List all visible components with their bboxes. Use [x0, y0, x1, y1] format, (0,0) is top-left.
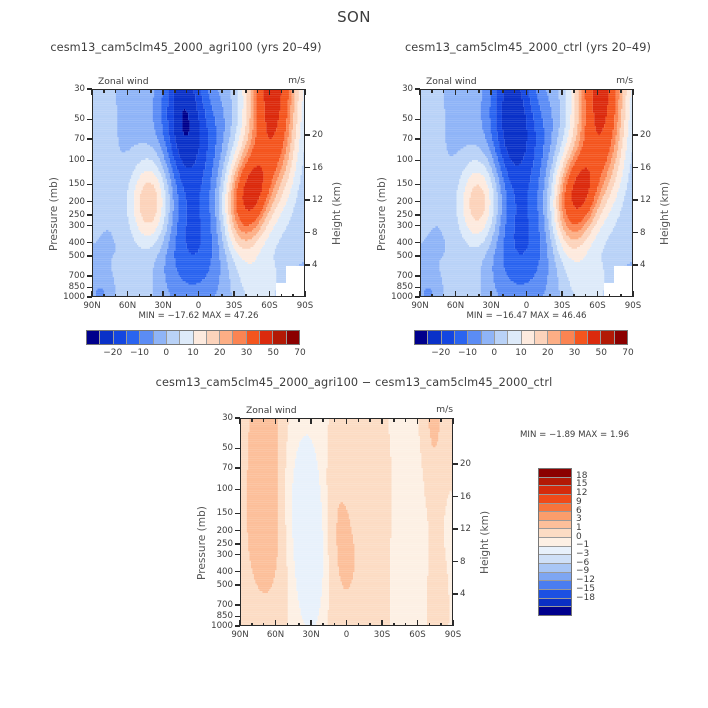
- top-axis-tick: [573, 89, 575, 93]
- pressure-tick-label: 250: [0, 210, 413, 220]
- bottom-axis-tick: [358, 623, 360, 627]
- top-axis-tick: [334, 418, 336, 422]
- height-tick-label: 4: [312, 260, 317, 270]
- bottom-axis-tick: [538, 294, 540, 298]
- pressure-tick: [415, 160, 420, 162]
- variable-label: Zonal wind: [426, 76, 477, 87]
- pressure-tick: [415, 242, 420, 244]
- pressure-tick: [235, 513, 240, 515]
- bottom-axis-tick: [369, 623, 371, 627]
- height-tick-label: 16: [640, 163, 651, 173]
- colorbar-swatch[interactable]: [87, 331, 100, 344]
- top-axis-tick: [429, 418, 431, 422]
- top-axis-tick: [381, 418, 383, 424]
- pressure-tick-label: 500: [0, 580, 233, 590]
- top-axis-tick: [502, 89, 504, 93]
- latitude-tick-label: 30N: [295, 630, 327, 640]
- top-axis-tick: [561, 89, 563, 95]
- bottom-axis-tick: [478, 294, 480, 298]
- pressure-tick: [415, 287, 420, 289]
- top-axis-tick: [239, 418, 241, 424]
- pressure-tick-label: 70: [0, 134, 413, 144]
- pressure-tick: [235, 554, 240, 556]
- bottom-axis-tick: [514, 294, 516, 298]
- top-axis-tick: [443, 89, 445, 93]
- top-axis-tick: [467, 89, 469, 93]
- height-tick: [453, 593, 458, 595]
- bottom-axis-tick: [419, 291, 421, 297]
- colorbar-swatch[interactable]: [415, 331, 428, 344]
- top-axis-tick: [251, 418, 253, 422]
- height-tick-label: 20: [460, 459, 471, 469]
- bottom-axis-tick: [452, 620, 454, 626]
- pressure-tick: [415, 225, 420, 227]
- latitude-tick-label: 60N: [112, 301, 144, 311]
- pressure-tick-label: 500: [0, 251, 413, 261]
- top-axis-tick: [369, 418, 371, 422]
- colorbar-swatch[interactable]: [428, 331, 441, 344]
- colorbar-swatch[interactable]: [539, 564, 571, 573]
- colorbar-swatch[interactable]: [539, 590, 571, 599]
- colorbar-swatch[interactable]: [455, 331, 468, 344]
- top-axis-tick: [514, 89, 516, 93]
- colorbar-swatch[interactable]: [508, 331, 521, 344]
- height-tick-label: 12: [460, 524, 471, 534]
- colorbar-swatch[interactable]: [273, 331, 286, 344]
- bottom-axis-tick: [381, 620, 383, 626]
- pressure-tick-label: 150: [0, 179, 413, 189]
- pressure-tick: [235, 584, 240, 586]
- pressure-tick-label: 1000: [0, 621, 233, 631]
- top-axis-tick: [597, 89, 599, 95]
- pressure-tick-label: 700: [0, 271, 413, 281]
- bottom-axis-tick: [429, 623, 431, 627]
- colorbar-swatch[interactable]: [180, 331, 193, 344]
- pressure-tick-label: 100: [0, 484, 233, 494]
- top-axis-tick: [455, 89, 457, 95]
- colorbar-swatch[interactable]: [539, 495, 571, 504]
- top-axis-tick: [526, 89, 528, 95]
- colorbar-swatch[interactable]: [539, 607, 571, 615]
- plot-panel-right: [420, 89, 633, 297]
- top-axis-tick: [431, 89, 433, 93]
- colorbar-swatch[interactable]: [167, 331, 180, 344]
- colorbar-swatch[interactable]: [539, 478, 571, 487]
- colorbar-swatch[interactable]: [442, 331, 455, 344]
- top-axis-tick: [346, 418, 348, 424]
- latitude-tick-label: 30S: [546, 301, 578, 311]
- height-tick: [305, 264, 310, 266]
- bottom-axis-tick: [443, 294, 445, 298]
- contour-field-diff: [241, 419, 453, 626]
- bottom-axis-tick: [431, 294, 433, 298]
- top-axis-tick: [632, 89, 634, 95]
- bottom-axis-tick: [298, 623, 300, 627]
- pressure-tick: [235, 489, 240, 491]
- latitude-tick-label: 90S: [437, 630, 469, 640]
- colorbar-swatch[interactable]: [220, 331, 233, 344]
- bottom-axis-tick: [275, 620, 277, 626]
- colorbar-swatch[interactable]: [615, 331, 627, 344]
- pressure-tick-label: 50: [0, 443, 233, 453]
- latitude-tick-label: 90N: [76, 301, 108, 311]
- colorbar-swatch[interactable]: [100, 331, 113, 344]
- pressure-tick-label: 50: [0, 114, 413, 124]
- pressure-tick-label: 100: [0, 155, 413, 165]
- height-tick-label: 16: [460, 492, 471, 502]
- bottom-axis-tick: [322, 623, 324, 627]
- top-axis-tick: [620, 89, 622, 93]
- height-tick: [453, 528, 458, 530]
- height-tick-label: 20: [640, 130, 651, 140]
- pressure-tick-label: 30: [0, 84, 413, 94]
- top-axis-tick: [287, 418, 289, 422]
- colorbar-swatch[interactable]: [539, 547, 571, 556]
- height-tick: [633, 167, 638, 169]
- height-tick: [305, 167, 310, 169]
- y-axis-left-title: Pressure (mb): [196, 506, 208, 580]
- colorbar-swatch[interactable]: [468, 331, 481, 344]
- pressure-tick: [415, 214, 420, 216]
- top-axis-tick: [609, 89, 611, 93]
- bottom-axis-tick: [490, 291, 492, 297]
- colorbar-swatch[interactable]: [114, 331, 127, 344]
- top-axis-tick: [440, 418, 442, 422]
- colorbar-swatch[interactable]: [127, 331, 140, 344]
- bottom-axis-tick: [502, 294, 504, 298]
- pressure-tick-label: 70: [0, 463, 233, 473]
- colorbar-swatch[interactable]: [539, 512, 571, 521]
- height-tick: [633, 199, 638, 201]
- top-axis-tick: [452, 418, 454, 424]
- panel-title-right: cesm13_cam5clm45_2000_ctrl (yrs 20–49): [358, 41, 698, 54]
- colorbar-swatch[interactable]: [287, 331, 299, 344]
- colorbar-swatch[interactable]: [140, 331, 153, 344]
- colorbar-tick-label: 70: [612, 348, 644, 358]
- height-tick-label: 12: [640, 195, 651, 205]
- colorbar-swatch[interactable]: [194, 331, 207, 344]
- pressure-tick: [235, 616, 240, 618]
- top-axis-tick: [263, 418, 265, 422]
- y-axis-right-title: Height (km): [659, 182, 671, 245]
- height-tick-label: 4: [460, 589, 465, 599]
- colorbar-horizontal-left[interactable]: [86, 330, 300, 345]
- pressure-tick-label: 300: [0, 221, 413, 231]
- pressure-tick-label: 850: [0, 282, 413, 292]
- colorbar-swatch[interactable]: [260, 331, 273, 344]
- pressure-tick: [235, 467, 240, 469]
- bottom-axis-tick: [561, 291, 563, 297]
- bottom-axis-tick: [263, 623, 265, 627]
- bottom-axis-tick: [467, 294, 469, 298]
- bottom-axis-tick: [585, 294, 587, 298]
- pressure-tick-label: 200: [0, 197, 413, 207]
- latitude-tick-label: 30S: [218, 301, 250, 311]
- top-axis-tick: [478, 89, 480, 93]
- bottom-axis-tick: [573, 294, 575, 298]
- height-tick: [453, 561, 458, 563]
- latitude-tick-label: 60N: [440, 301, 472, 311]
- top-axis-tick: [393, 418, 395, 422]
- colorbar-vertical-diff[interactable]: [538, 468, 572, 616]
- bottom-axis-tick: [287, 623, 289, 627]
- colorbar-swatch[interactable]: [207, 331, 220, 344]
- top-axis-tick: [358, 418, 360, 422]
- height-tick: [305, 232, 310, 234]
- height-tick: [633, 134, 638, 136]
- panel-title-diff: cesm13_cam5clm45_2000_agri100 − cesm13_c…: [0, 376, 708, 389]
- latitude-tick-label: 60S: [402, 630, 434, 640]
- colorbar-swatch[interactable]: [495, 331, 508, 344]
- pressure-tick: [415, 184, 420, 186]
- pressure-tick: [235, 604, 240, 606]
- bottom-axis-tick: [455, 291, 457, 297]
- colorbar-swatch[interactable]: [539, 573, 571, 582]
- colorbar-swatch[interactable]: [539, 581, 571, 590]
- colorbar-horizontal-right[interactable]: [414, 330, 628, 345]
- bottom-axis-tick: [597, 291, 599, 297]
- latitude-tick-label: 90N: [404, 301, 436, 311]
- pressure-tick-label: 700: [0, 600, 233, 610]
- minmax-right: MIN = −16.47 MAX = 46.46: [420, 311, 633, 321]
- pressure-tick-label: 30: [0, 413, 233, 423]
- colorbar-swatch[interactable]: [539, 504, 571, 513]
- colorbar-swatch[interactable]: [247, 331, 260, 344]
- missing-data-mask: [614, 266, 633, 297]
- bottom-axis-tick: [526, 291, 528, 297]
- latitude-tick-label: 0: [511, 301, 543, 311]
- minmax-left: MIN = −17.62 MAX = 47.26: [92, 311, 305, 321]
- pressure-tick: [415, 119, 420, 121]
- height-tick: [633, 232, 638, 234]
- panel-title-left: cesm13_cam5clm45_2000_agri100 (yrs 20–49…: [16, 41, 356, 54]
- latitude-tick-label: 30N: [147, 301, 179, 311]
- latitude-tick-label: 30S: [366, 630, 398, 640]
- colorbar-swatch[interactable]: [539, 521, 571, 530]
- colorbar-swatch[interactable]: [535, 331, 548, 344]
- units-label: m/s: [419, 404, 453, 415]
- plot-panel-diff: [240, 418, 453, 626]
- top-axis-tick: [538, 89, 540, 93]
- units-label: m/s: [599, 75, 633, 86]
- colorbar-swatch[interactable]: [522, 331, 535, 344]
- y-axis-left-title: Pressure (mb): [376, 177, 388, 251]
- pressure-tick: [235, 543, 240, 545]
- colorbar-swatch[interactable]: [539, 486, 571, 495]
- colorbar-swatch[interactable]: [561, 331, 574, 344]
- colorbar-swatch[interactable]: [539, 538, 571, 547]
- top-axis-tick: [549, 89, 551, 93]
- height-tick: [453, 463, 458, 465]
- pressure-tick-label: 400: [0, 238, 413, 248]
- bottom-axis-tick: [393, 623, 395, 627]
- variable-label: Zonal wind: [246, 405, 297, 416]
- pressure-tick: [235, 530, 240, 532]
- top-axis-tick: [275, 418, 277, 424]
- colorbar-tick-label: −18: [576, 593, 595, 603]
- bottom-axis-tick: [440, 623, 442, 627]
- pressure-tick-label: 1000: [0, 292, 413, 302]
- colorbar-tick-label: 70: [284, 348, 316, 358]
- latitude-tick-label: 90S: [289, 301, 321, 311]
- minmax-diff: MIN = −1.89 MAX = 1.96: [520, 430, 629, 440]
- colorbar-swatch[interactable]: [539, 555, 571, 564]
- top-axis-tick: [310, 418, 312, 424]
- pressure-tick: [415, 255, 420, 257]
- pressure-tick: [415, 138, 420, 140]
- height-tick: [633, 264, 638, 266]
- latitude-tick-label: 90N: [224, 630, 256, 640]
- pressure-tick-label: 850: [0, 611, 233, 621]
- latitude-tick-label: 0: [331, 630, 363, 640]
- latitude-tick-label: 0: [183, 301, 215, 311]
- colorbar-swatch[interactable]: [482, 331, 495, 344]
- colorbar-swatch[interactable]: [548, 331, 561, 344]
- colorbar-swatch[interactable]: [539, 529, 571, 538]
- top-axis-tick: [490, 89, 492, 95]
- colorbar-swatch[interactable]: [154, 331, 167, 344]
- y-axis-right-title: Height (km): [479, 511, 491, 574]
- colorbar-swatch[interactable]: [588, 331, 601, 344]
- pressure-tick: [415, 275, 420, 277]
- bottom-axis-tick: [405, 623, 407, 627]
- top-axis-tick: [417, 418, 419, 424]
- latitude-tick-label: 90S: [617, 301, 649, 311]
- bottom-axis-tick: [620, 294, 622, 298]
- bottom-axis-tick: [632, 291, 634, 297]
- height-tick: [453, 496, 458, 498]
- pressure-tick: [235, 571, 240, 573]
- top-axis-tick: [322, 418, 324, 422]
- pressure-tick: [235, 448, 240, 450]
- top-axis-tick: [298, 418, 300, 422]
- bottom-axis-tick: [310, 620, 312, 626]
- top-axis-tick: [585, 89, 587, 93]
- pressure-tick: [415, 201, 420, 203]
- bottom-axis-tick: [334, 623, 336, 627]
- colorbar-swatch[interactable]: [539, 599, 571, 608]
- top-axis-tick: [405, 418, 407, 422]
- bottom-axis-tick: [417, 620, 419, 626]
- colorbar-swatch[interactable]: [575, 331, 588, 344]
- colorbar-swatch[interactable]: [539, 469, 571, 478]
- bottom-axis-tick: [609, 294, 611, 298]
- contour-field-right: [421, 90, 633, 297]
- colorbar-swatch[interactable]: [601, 331, 614, 344]
- latitude-tick-label: 60N: [260, 630, 292, 640]
- latitude-tick-label: 60S: [254, 301, 286, 311]
- height-tick-label: 8: [460, 557, 465, 567]
- bottom-axis-tick: [239, 620, 241, 626]
- bottom-axis-tick: [346, 620, 348, 626]
- height-tick-label: 8: [640, 228, 645, 238]
- height-tick-label: 4: [640, 260, 645, 270]
- colorbar-swatch[interactable]: [233, 331, 246, 344]
- bottom-axis-tick: [549, 294, 551, 298]
- latitude-tick-label: 30N: [475, 301, 507, 311]
- bottom-axis-tick: [251, 623, 253, 627]
- top-axis-tick: [419, 89, 421, 95]
- figure-title: SON: [0, 8, 708, 26]
- latitude-tick-label: 60S: [582, 301, 614, 311]
